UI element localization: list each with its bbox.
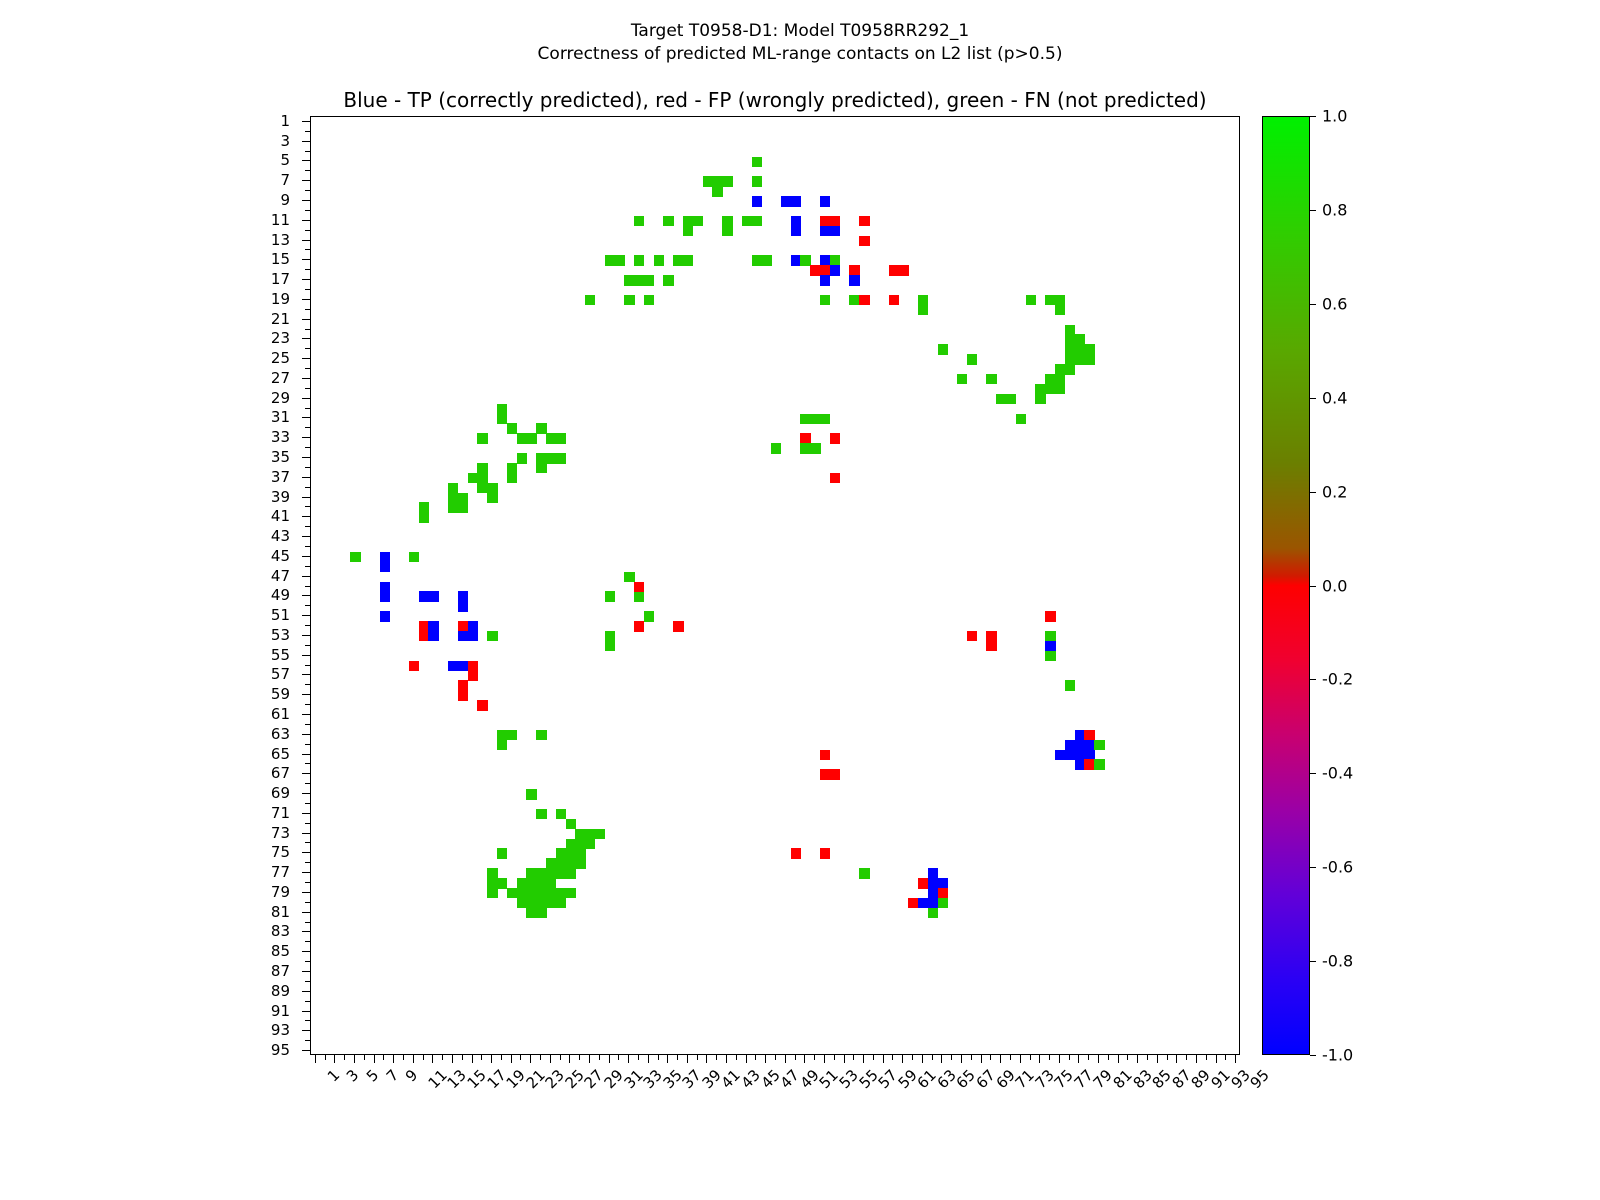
cell-fn-green xyxy=(477,463,487,473)
cell-fn-green xyxy=(663,216,673,226)
x-tick xyxy=(1167,1055,1168,1060)
cell-fn-green xyxy=(654,255,664,265)
cell-fn-green xyxy=(683,226,693,236)
x-tick xyxy=(1118,1055,1119,1063)
x-tick xyxy=(1088,1055,1089,1060)
y-tick-label: 43 xyxy=(271,527,290,545)
colorbar-tick xyxy=(1310,773,1316,774)
cell-fp-red xyxy=(967,631,977,641)
cell-fp-red xyxy=(830,473,840,483)
y-tick xyxy=(302,279,310,280)
x-tick xyxy=(1157,1055,1158,1063)
cell-fp-red xyxy=(458,680,468,690)
cell-fp-red xyxy=(898,265,908,275)
y-tick-label: 49 xyxy=(271,586,290,604)
cell-fn-green xyxy=(820,295,830,305)
y-tick-label: 75 xyxy=(271,843,290,861)
colorbar-tick-label: -0.2 xyxy=(1322,670,1353,689)
y-tick-label: 3 xyxy=(280,132,290,150)
axes-title-legend: Blue - TP (correctly predicted), red - F… xyxy=(310,88,1240,112)
y-tick xyxy=(302,200,310,201)
cell-fn-green xyxy=(566,819,576,829)
x-tick xyxy=(501,1055,502,1060)
y-tick-label: 61 xyxy=(271,705,290,723)
cell-fn-green xyxy=(1094,740,1104,750)
colorbar-tick-label: 1.0 xyxy=(1322,107,1347,126)
cell-fn-green xyxy=(448,483,458,493)
x-tick xyxy=(589,1055,590,1063)
y-tick-label: 37 xyxy=(271,468,290,486)
cell-fn-green xyxy=(986,374,996,384)
colorbar-tick xyxy=(1310,398,1316,399)
x-tick xyxy=(1137,1055,1138,1063)
cell-fn-green xyxy=(752,176,762,186)
y-tick-label: 95 xyxy=(271,1041,290,1059)
x-tick xyxy=(1216,1055,1217,1063)
y-tick xyxy=(302,852,310,853)
x-tick xyxy=(344,1055,345,1060)
x-tick xyxy=(1059,1055,1060,1063)
y-tick-label: 91 xyxy=(271,1002,290,1020)
y-tick-label: 45 xyxy=(271,547,290,565)
x-tick xyxy=(844,1055,845,1063)
x-tick xyxy=(1127,1055,1128,1060)
cell-fn-green xyxy=(644,295,654,305)
y-tick xyxy=(302,180,310,181)
x-tick xyxy=(1000,1055,1001,1063)
x-tick xyxy=(873,1055,874,1060)
y-tick-label: 35 xyxy=(271,448,290,466)
y-tick-label: 7 xyxy=(280,171,290,189)
y-tick xyxy=(302,457,310,458)
x-tick xyxy=(746,1055,747,1063)
x-tick xyxy=(393,1055,394,1063)
y-tick xyxy=(302,338,310,339)
y-tick xyxy=(302,378,310,379)
x-tick xyxy=(403,1055,404,1060)
y-tick xyxy=(302,477,310,478)
y-tick-label: 21 xyxy=(271,310,290,328)
x-tick xyxy=(892,1055,893,1060)
cell-fp-red xyxy=(820,750,830,760)
cell-fn-green xyxy=(536,730,546,740)
y-tick xyxy=(302,417,310,418)
x-tick xyxy=(442,1055,443,1060)
x-tick xyxy=(961,1055,962,1063)
x-tick xyxy=(765,1055,766,1063)
x-tick-label: 9 xyxy=(402,1066,421,1085)
cell-fn-green xyxy=(526,433,536,443)
cell-fp-red xyxy=(889,295,899,305)
cell-fn-green xyxy=(419,512,429,522)
cell-fn-green xyxy=(928,908,938,918)
x-tick xyxy=(658,1055,659,1060)
x-tick-label: 95 xyxy=(1247,1066,1273,1092)
y-tick-label: 57 xyxy=(271,665,290,683)
x-tick xyxy=(883,1055,884,1063)
y-tick-label: 65 xyxy=(271,745,290,763)
x-tick xyxy=(540,1055,541,1060)
cell-fp-red xyxy=(830,769,840,779)
cell-fn-green xyxy=(487,868,497,878)
x-tick xyxy=(795,1055,796,1060)
cell-fn-green xyxy=(477,433,487,443)
y-tick-label: 17 xyxy=(271,270,290,288)
y-tick-label: 33 xyxy=(271,428,290,446)
x-tick xyxy=(834,1055,835,1060)
y-tick-label: 51 xyxy=(271,606,290,624)
x-tick xyxy=(383,1055,384,1060)
y-tick xyxy=(302,872,310,873)
cell-fn-green xyxy=(487,493,497,503)
y-tick xyxy=(302,220,310,221)
suptitle-line-1: Target T0958-D1: Model T0958RR292_1 xyxy=(631,21,969,41)
x-tick xyxy=(1039,1055,1040,1063)
y-tick-label: 89 xyxy=(271,982,290,1000)
x-tick xyxy=(374,1055,375,1063)
cell-fn-green xyxy=(1006,394,1016,404)
x-tick xyxy=(677,1055,678,1060)
cell-fn-green xyxy=(595,829,605,839)
colorbar-tick-label: -1.0 xyxy=(1322,1046,1353,1065)
y-tick xyxy=(302,714,310,715)
y-tick xyxy=(302,971,310,972)
cell-fp-red xyxy=(859,295,869,305)
x-tick xyxy=(755,1055,756,1060)
cell-fp-red xyxy=(673,621,683,631)
y-tick xyxy=(302,694,310,695)
y-tick xyxy=(302,319,310,320)
colorbar-tick-label: 0.6 xyxy=(1322,294,1347,313)
x-tick xyxy=(530,1055,531,1063)
cell-fn-green xyxy=(1016,414,1026,424)
cell-fn-green xyxy=(1035,394,1045,404)
cell-fn-green xyxy=(967,354,977,364)
y-tick xyxy=(302,121,310,122)
y-tick-label: 79 xyxy=(271,883,290,901)
cell-fn-green xyxy=(507,463,517,473)
x-tick xyxy=(912,1055,913,1060)
cell-fp-red xyxy=(986,631,996,641)
x-tick xyxy=(481,1055,482,1060)
x-tick xyxy=(1206,1055,1207,1060)
y-tick xyxy=(302,160,310,161)
cell-fn-green xyxy=(556,898,566,908)
x-tick xyxy=(785,1055,786,1063)
y-tick xyxy=(302,595,310,596)
y-tick-label: 63 xyxy=(271,725,290,743)
y-tick xyxy=(302,141,310,142)
cell-fn-green xyxy=(722,226,732,236)
y-tick xyxy=(302,912,310,913)
cell-fn-green xyxy=(1026,295,1036,305)
cell-fn-green xyxy=(536,809,546,819)
cell-fn-green xyxy=(634,255,644,265)
cell-tp-blue xyxy=(380,582,390,592)
colorbar-tick-label: -0.4 xyxy=(1322,764,1353,783)
y-tick-label: 47 xyxy=(271,567,290,585)
cell-fn-green xyxy=(693,216,703,226)
y-tick-label: 87 xyxy=(271,962,290,980)
cell-fn-green xyxy=(771,443,781,453)
cell-tp-blue xyxy=(830,226,840,236)
x-tick xyxy=(1108,1055,1109,1060)
suptitle-line-2: Correctness of predicted ML-range contac… xyxy=(0,43,1600,66)
cell-fp-red xyxy=(468,671,478,681)
cell-tp-blue xyxy=(468,631,478,641)
x-tick xyxy=(804,1055,805,1063)
colorbar-tick xyxy=(1310,492,1316,493)
x-axis-tick-labels: 1357911131517192123252729313335373941434… xyxy=(310,1066,1240,1136)
x-tick xyxy=(354,1055,355,1063)
y-tick xyxy=(302,1050,310,1051)
y-tick-label: 19 xyxy=(271,290,290,308)
cell-fp-red xyxy=(986,641,996,651)
cell-tp-blue xyxy=(380,562,390,572)
cell-tp-blue xyxy=(830,265,840,275)
cell-tp-blue xyxy=(820,275,830,285)
cell-fp-red xyxy=(938,888,948,898)
y-axis-tick-labels: 1357911131517192123252729313335373941434… xyxy=(0,116,300,1055)
x-tick xyxy=(853,1055,854,1060)
cell-fn-green xyxy=(683,255,693,265)
cell-fn-green xyxy=(556,453,566,463)
x-tick xyxy=(814,1055,815,1060)
cell-fn-green xyxy=(712,186,722,196)
cell-fn-green xyxy=(566,888,576,898)
y-tick xyxy=(302,259,310,260)
y-tick xyxy=(302,556,310,557)
cell-fn-green xyxy=(517,453,527,463)
colorbar-tick-marks xyxy=(1310,116,1320,1055)
cell-fp-red xyxy=(1084,730,1094,740)
y-tick xyxy=(302,951,310,952)
cell-fn-green xyxy=(859,868,869,878)
y-tick-label: 5 xyxy=(280,151,290,169)
x-tick xyxy=(423,1055,424,1060)
x-tick xyxy=(932,1055,933,1060)
cell-tp-blue xyxy=(1084,750,1094,760)
cell-fn-green xyxy=(575,858,585,868)
y-tick-label: 69 xyxy=(271,784,290,802)
x-tick xyxy=(1196,1055,1197,1063)
cell-tp-blue xyxy=(380,552,390,562)
cell-fn-green xyxy=(1055,384,1065,394)
y-tick xyxy=(302,991,310,992)
cell-fn-green xyxy=(624,295,634,305)
x-tick xyxy=(472,1055,473,1063)
cell-fn-green xyxy=(605,641,615,651)
cell-fn-green xyxy=(1055,305,1065,315)
cell-fn-green xyxy=(536,463,546,473)
cell-fp-red xyxy=(859,216,869,226)
x-tick xyxy=(1069,1055,1070,1060)
cell-fp-red xyxy=(830,433,840,443)
cell-fn-green xyxy=(938,898,948,908)
cell-fn-green xyxy=(1084,344,1094,354)
x-tick xyxy=(716,1055,717,1060)
colorbar-tick xyxy=(1310,304,1316,305)
y-tick-label: 11 xyxy=(271,211,290,229)
cell-fn-green xyxy=(1065,364,1075,374)
cell-fn-green xyxy=(1065,680,1075,690)
cell-fn-green xyxy=(566,868,576,878)
y-tick xyxy=(302,536,310,537)
cell-fn-green xyxy=(605,591,615,601)
cell-fn-green xyxy=(487,631,497,641)
y-tick-label: 23 xyxy=(271,329,290,347)
x-tick xyxy=(569,1055,570,1063)
cell-fn-green xyxy=(507,473,517,483)
y-tick-label: 77 xyxy=(271,863,290,881)
y-tick-label: 41 xyxy=(271,507,290,525)
cell-tp-blue xyxy=(458,601,468,611)
cell-fn-green xyxy=(722,216,732,226)
cell-fp-red xyxy=(1045,611,1055,621)
x-tick xyxy=(824,1055,825,1063)
x-tick xyxy=(1147,1055,1148,1060)
x-tick xyxy=(1030,1055,1031,1060)
x-tick xyxy=(706,1055,707,1063)
y-tick-label: 1 xyxy=(280,112,290,130)
x-tick xyxy=(520,1055,521,1060)
cell-tp-blue xyxy=(380,591,390,601)
cell-fp-red xyxy=(859,236,869,246)
y-tick-label: 53 xyxy=(271,626,290,644)
y-tick xyxy=(302,674,310,675)
x-tick xyxy=(863,1055,864,1063)
colorbar-tick xyxy=(1310,961,1316,962)
colorbar-tick xyxy=(1310,1055,1316,1056)
x-tick xyxy=(1235,1055,1236,1063)
y-tick xyxy=(302,497,310,498)
y-tick xyxy=(302,1011,310,1012)
cell-fn-green xyxy=(810,443,820,453)
x-tick xyxy=(550,1055,551,1063)
x-tick xyxy=(1078,1055,1079,1063)
x-tick xyxy=(628,1055,629,1063)
x-tick xyxy=(1010,1055,1011,1060)
x-tick xyxy=(648,1055,649,1063)
cell-fp-red xyxy=(800,433,810,443)
x-tick xyxy=(951,1055,952,1060)
cell-fn-green xyxy=(585,295,595,305)
cell-fn-green xyxy=(526,789,536,799)
cell-fn-green xyxy=(634,591,644,601)
cell-fn-green xyxy=(663,275,673,285)
cell-fn-green xyxy=(614,255,624,265)
y-tick-label: 13 xyxy=(271,231,290,249)
y-tick xyxy=(302,833,310,834)
y-tick-label: 25 xyxy=(271,349,290,367)
x-tick xyxy=(560,1055,561,1060)
y-tick xyxy=(302,437,310,438)
cell-fn-green xyxy=(585,839,595,849)
x-tick xyxy=(981,1055,982,1063)
cell-fn-green xyxy=(820,414,830,424)
y-tick-label: 93 xyxy=(271,1021,290,1039)
x-tick xyxy=(638,1055,639,1060)
y-tick-label: 81 xyxy=(271,903,290,921)
figure-suptitle: Target T0958-D1: Model T0958RR292_1 Corr… xyxy=(0,20,1600,66)
x-tick xyxy=(902,1055,903,1063)
y-tick xyxy=(302,576,310,577)
colorbar-tick xyxy=(1310,586,1316,587)
cell-fp-red xyxy=(409,661,419,671)
cell-fn-green xyxy=(752,216,762,226)
y-axis-tick-marks xyxy=(302,116,310,1055)
cell-fn-green xyxy=(1075,334,1085,344)
cell-fn-green xyxy=(409,552,419,562)
y-tick-label: 39 xyxy=(271,488,290,506)
colorbar-tick-label: 0.2 xyxy=(1322,482,1347,501)
colorbar-tick-label: -0.8 xyxy=(1322,952,1353,971)
x-axis-tick-marks xyxy=(310,1055,1240,1065)
x-tick xyxy=(1098,1055,1099,1063)
y-tick xyxy=(302,635,310,636)
cell-fn-green xyxy=(556,433,566,443)
cell-fn-green xyxy=(497,414,507,424)
x-tick xyxy=(971,1055,972,1060)
cell-tp-blue xyxy=(791,196,801,206)
x-tick xyxy=(491,1055,492,1063)
y-tick-label: 31 xyxy=(271,408,290,426)
colorbar-tick xyxy=(1310,679,1316,680)
cell-tp-blue xyxy=(849,275,859,285)
y-tick xyxy=(302,734,310,735)
y-tick-label: 59 xyxy=(271,685,290,703)
y-tick-label: 83 xyxy=(271,922,290,940)
y-tick xyxy=(302,615,310,616)
x-tick xyxy=(736,1055,737,1060)
y-tick xyxy=(302,754,310,755)
cell-fn-green xyxy=(1045,631,1055,641)
y-tick xyxy=(302,931,310,932)
colorbar-tick xyxy=(1310,116,1316,117)
x-tick xyxy=(667,1055,668,1063)
cell-fn-green xyxy=(497,740,507,750)
cell-fp-red xyxy=(458,690,468,700)
x-tick xyxy=(599,1055,600,1060)
x-tick xyxy=(1225,1055,1226,1060)
y-tick xyxy=(302,793,310,794)
y-tick xyxy=(302,773,310,774)
y-tick xyxy=(302,358,310,359)
x-tick-label: 7 xyxy=(382,1066,401,1085)
cell-fn-green xyxy=(605,631,615,641)
x-tick xyxy=(618,1055,619,1060)
x-tick-label: 1 xyxy=(324,1066,343,1085)
cell-fn-green xyxy=(1094,759,1104,769)
y-tick-label: 71 xyxy=(271,804,290,822)
x-tick xyxy=(364,1055,365,1060)
cell-fp-red xyxy=(634,582,644,592)
y-tick-label: 55 xyxy=(271,646,290,664)
colorbar-tick-label: 0.0 xyxy=(1322,576,1347,595)
cell-fn-green xyxy=(487,888,497,898)
cell-fn-green xyxy=(1084,354,1094,364)
cell-fn-green xyxy=(419,502,429,512)
colorbar-tick-label: -0.6 xyxy=(1322,858,1353,877)
x-tick xyxy=(922,1055,923,1063)
x-tick xyxy=(452,1055,453,1063)
x-tick-label: 5 xyxy=(363,1066,382,1085)
contact-map-axes[interactable] xyxy=(310,116,1240,1055)
x-tick xyxy=(697,1055,698,1060)
x-tick xyxy=(990,1055,991,1060)
cell-fn-green xyxy=(957,374,967,384)
y-tick xyxy=(302,813,310,814)
